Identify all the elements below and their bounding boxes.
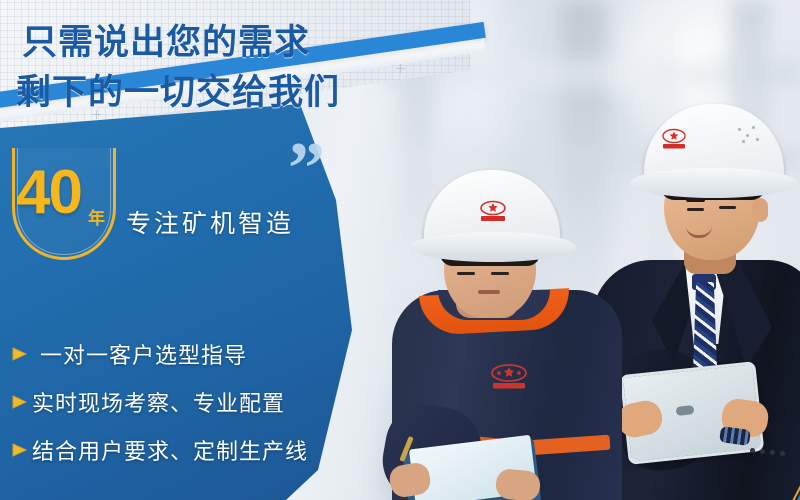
years-unit: 年 (88, 204, 105, 229)
list-item: 实时现场考察、专业配置 (10, 378, 330, 426)
list-item-label: 一对一客户选型指导 (32, 338, 247, 370)
list-item: 一对一客户选型指导 (10, 330, 330, 378)
headline-line-1: 只需说出您的需求 (22, 14, 310, 65)
list-item: 结合用户要求、定制生产线 (10, 426, 330, 474)
quotation-mark-icon: ” (288, 132, 325, 206)
feature-bullet-list: 一对一客户选型指导 实时现场考察、专业配置 结合用户要求、定制生产线 (10, 330, 330, 474)
arrow-right-icon (10, 393, 32, 411)
list-item-label: 实时现场考察、专业配置 (32, 386, 285, 418)
arrow-right-icon (10, 345, 32, 363)
promo-banner: 只需说出您的需求 剩下的一切交给我们 ” 40 年 专注矿机智造 一对一客户选型… (0, 0, 800, 500)
years-badge: 40 年 (12, 148, 116, 260)
arrow-right-icon (10, 441, 32, 459)
badge-slogan: 专注矿机智造 (126, 204, 294, 240)
list-item-label: 结合用户要求、定制生产线 (32, 434, 308, 466)
years-number: 40 (16, 162, 81, 224)
headline-line-2: 剩下的一切交给我们 (16, 64, 340, 115)
